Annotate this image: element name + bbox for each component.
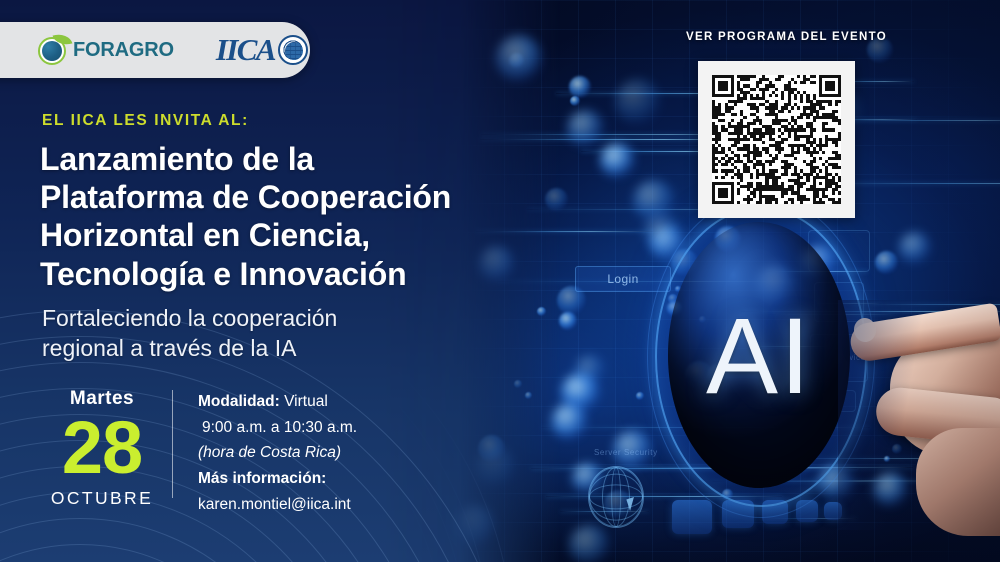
more-info-label: Más información: — [198, 470, 326, 487]
foragro-wordmark: FORAGRO — [73, 39, 174, 62]
vertical-divider — [172, 390, 173, 498]
modality-value: Virtual — [284, 393, 328, 410]
subtitle-line-0: Fortaleciendo la cooperación — [42, 304, 442, 334]
page-title-line-2: Horizontal en Ciencia, — [40, 216, 510, 254]
qr-caption: VER PROGRAMA DEL EVENTO — [686, 31, 887, 43]
event-timezone: (hora de Costa Rica) — [198, 444, 341, 461]
date-month: OCTUBRE — [34, 488, 170, 509]
modality-label: Modalidad: — [198, 393, 280, 410]
iica-logo: IICA — [216, 32, 308, 68]
iica-wordmark: IICA — [216, 32, 275, 68]
subtitle: Fortaleciendo la cooperaciónregional a t… — [42, 304, 442, 364]
logo-bar: FORAGRO IICA — [0, 22, 310, 78]
subtitle-line-1: regional a través de la IA — [42, 334, 442, 364]
iica-seal-icon — [278, 35, 308, 65]
detail-more-info: Más información: — [198, 466, 438, 492]
foragro-logo: FORAGRO — [38, 34, 174, 66]
detail-email: karen.montiel@iica.int — [198, 492, 438, 518]
page-title: Lanzamiento de laPlataforma de Cooperaci… — [40, 140, 510, 293]
page-title-line-1: Plataforma de Cooperación — [40, 178, 510, 216]
globe-leaf-icon — [38, 34, 70, 66]
event-details-block: Modalidad: Virtual 9:00 a.m. a 10:30 a.m… — [198, 389, 438, 518]
page-title-line-0: Lanzamiento de la — [40, 140, 510, 178]
detail-timezone: (hora de Costa Rica) — [198, 440, 438, 466]
detail-modality: Modalidad: Virtual — [198, 389, 438, 415]
contact-email[interactable]: karen.montiel@iica.int — [198, 496, 351, 513]
date-day: 28 — [34, 412, 170, 484]
detail-time: 9:00 a.m. a 10:30 a.m. — [198, 415, 438, 441]
event-date-block: Martes 28 OCTUBRE — [34, 388, 170, 509]
invitation-eyebrow: EL IICA LES INVITA AL: — [42, 112, 249, 130]
event-time: 9:00 a.m. a 10:30 a.m. — [198, 419, 357, 436]
qr-card[interactable] — [698, 61, 855, 218]
page-title-line-3: Tecnología e Innovación — [40, 255, 510, 293]
event-banner: Devices Login Server Security AI FORA — [0, 0, 1000, 562]
qr-code-icon[interactable] — [712, 75, 841, 204]
